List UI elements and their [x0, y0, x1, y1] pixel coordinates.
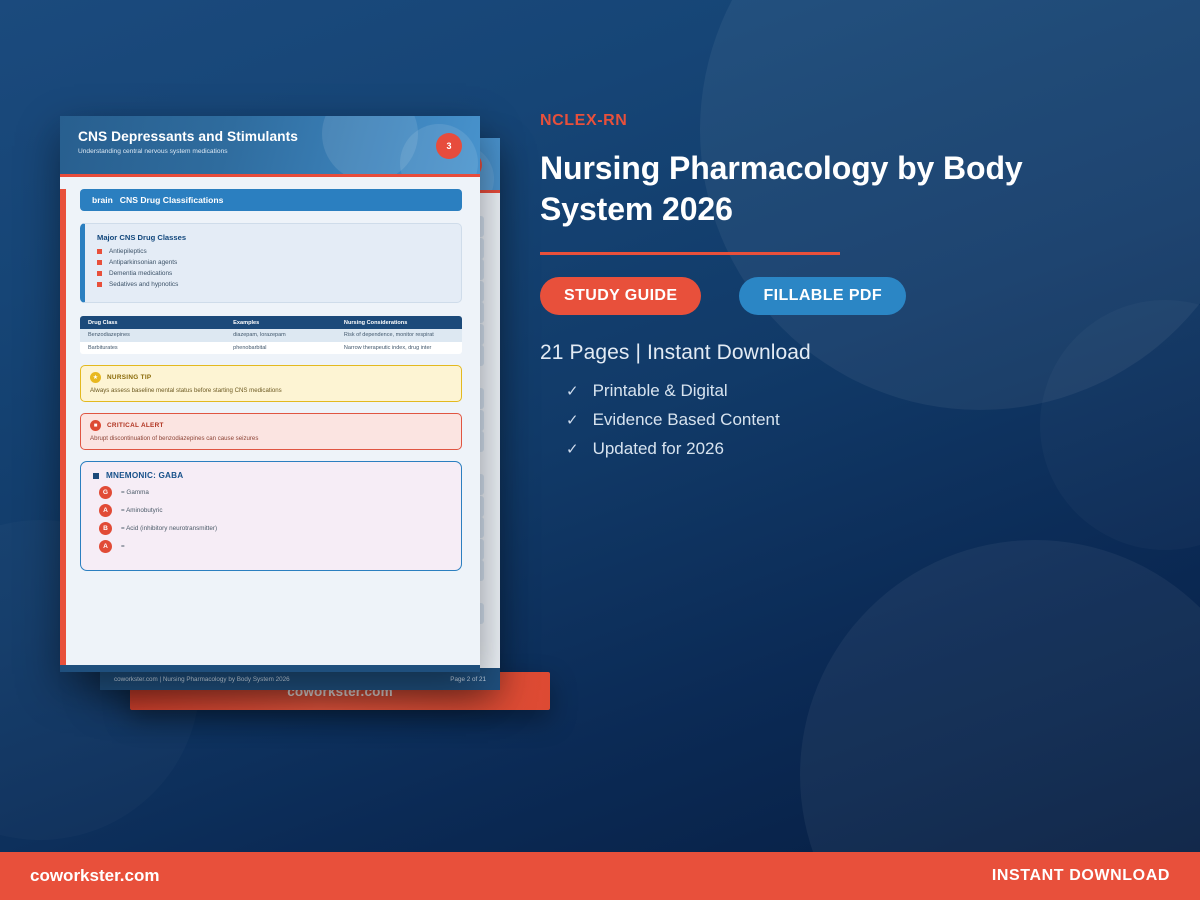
list-item: ✓ Evidence Based Content	[566, 410, 1140, 430]
bottom-bar-brand: coworkster.com	[30, 866, 159, 886]
nursing-tip-body: Always assess baseline mental status bef…	[90, 387, 452, 394]
mnemonic-letter: A	[99, 504, 112, 517]
table-header-cell: Examples	[225, 320, 336, 326]
page-2-footer-right: Page 2 of 21	[450, 676, 486, 683]
section-header: brain CNS Drug Classifications	[80, 189, 462, 211]
page-left-accent-bar	[60, 189, 66, 665]
bullet-square-icon	[97, 271, 102, 276]
mnemonic-value: = Acid (inhibitory neurotransmitter)	[121, 525, 217, 532]
table-cell: Benzodiazepines	[80, 332, 225, 338]
nursing-tip-title: NURSING TIP	[107, 374, 152, 381]
mnemonic-header: MNEMONIC: GABA	[93, 471, 449, 480]
feature-list: ✓ Printable & Digital ✓ Evidence Based C…	[540, 381, 1140, 459]
bottom-bar: coworkster.com INSTANT DOWNLOAD	[0, 852, 1200, 900]
mnemonic-row: B = Acid (inhibitory neurotransmitter)	[99, 522, 449, 535]
mnemonic-row: A =	[99, 540, 449, 553]
table-row: Benzodiazepines diazepam, lorazepam Risk…	[80, 329, 462, 342]
mnemonic-letter: A	[99, 540, 112, 553]
list-item-label: Antiepileptics	[109, 248, 147, 255]
table-cell: Risk of dependence, monitor respirat	[336, 332, 462, 338]
critical-alert-callout: ■ CRITICAL ALERT Abrupt discontinuation …	[80, 413, 462, 450]
list-item: Antiparkinsonian agents	[97, 259, 449, 266]
drug-table: Drug Class Examples Nursing Consideratio…	[80, 316, 462, 354]
feature-label: Updated for 2026	[593, 439, 724, 459]
nursing-tip-callout: ★ NURSING TIP Always assess baseline men…	[80, 365, 462, 402]
list-item: Antiepileptics	[97, 248, 449, 255]
stop-icon: ■	[90, 420, 101, 431]
table-cell: Barbiturates	[80, 345, 225, 351]
product-title: Nursing Pharmacology by Body System 2026	[540, 148, 1060, 230]
check-icon: ✓	[566, 411, 579, 429]
feature-label: Evidence Based Content	[593, 410, 780, 430]
decorative-circle-bottom-right	[800, 540, 1200, 900]
mnemonic-letter: B	[99, 522, 112, 535]
title-divider	[540, 252, 840, 255]
brain-icon: brain	[92, 195, 113, 205]
preview-page-3[interactable]: CNS Depressants and Stimulants Understan…	[60, 116, 480, 672]
page-3-badge: 3	[436, 133, 462, 159]
drug-class-list: Antiepileptics Antiparkinsonian agents D…	[97, 248, 449, 288]
card-title: Major CNS Drug Classes	[97, 233, 449, 242]
bullet-square-icon	[97, 249, 102, 254]
table-cell: phenobarbital	[225, 345, 336, 351]
list-item: ✓ Printable & Digital	[566, 381, 1140, 401]
fillable-pdf-badge[interactable]: FILLABLE PDF	[739, 277, 906, 315]
document-preview-stack[interactable]: coworkster.com 2 3 4 5 6 7 8 9 10 11 12 …	[0, 0, 600, 760]
mnemonic-row: A = Aminobutyric	[99, 504, 449, 517]
mnemonic-card: MNEMONIC: GABA G = Gamma A = Aminobutyri…	[80, 461, 462, 571]
table-cell: diazepam, lorazepam	[225, 332, 336, 338]
page-subtitle: Understanding central nervous system med…	[78, 148, 480, 155]
product-badges: STUDY GUIDE FILLABLE PDF	[540, 277, 1140, 315]
square-icon	[93, 473, 99, 479]
table-cell: Narrow therapeutic index, drug inter	[336, 345, 462, 351]
table-row: Barbiturates phenobarbital Narrow therap…	[80, 342, 462, 355]
mnemonic-row: G = Gamma	[99, 486, 449, 499]
critical-alert-body: Abrupt discontinuation of benzodiazepine…	[90, 435, 452, 442]
product-info-panel: NCLEX-RN Nursing Pharmacology by Body Sy…	[540, 112, 1140, 468]
exam-category-label: NCLEX-RN	[540, 112, 1140, 130]
list-item: ✓ Updated for 2026	[566, 439, 1140, 459]
bullet-square-icon	[97, 260, 102, 265]
page-3-body: brain CNS Drug Classifications Major CNS…	[60, 189, 480, 672]
bottom-bar-cta: INSTANT DOWNLOAD	[992, 867, 1170, 885]
list-item-label: Sedatives and hypnotics	[109, 281, 178, 288]
section-header-label: CNS Drug Classifications	[120, 195, 224, 205]
mnemonic-value: = Gamma	[121, 489, 149, 496]
feature-label: Printable & Digital	[593, 381, 728, 401]
page-3-header: CNS Depressants and Stimulants Understan…	[60, 116, 480, 174]
page-title: CNS Depressants and Stimulants	[78, 129, 480, 144]
check-icon: ✓	[566, 382, 579, 400]
page-3-accent-rule	[60, 174, 480, 177]
critical-alert-title: CRITICAL ALERT	[107, 422, 164, 429]
list-item-label: Antiparkinsonian agents	[109, 259, 177, 266]
bullet-square-icon	[97, 282, 102, 287]
product-meta: 21 Pages | Instant Download	[540, 341, 1140, 365]
mnemonic-title: MNEMONIC: GABA	[106, 471, 183, 480]
list-item: Dementia medications	[97, 270, 449, 277]
page-2-footer-left: coworkster.com | Nursing Pharmacology by…	[114, 676, 290, 683]
study-guide-badge[interactable]: STUDY GUIDE	[540, 277, 701, 315]
mnemonic-value: = Aminobutyric	[121, 507, 162, 514]
mnemonic-value: =	[121, 543, 125, 550]
table-header-cell: Drug Class	[80, 320, 225, 326]
mnemonic-letter: G	[99, 486, 112, 499]
table-header-cell: Nursing Considerations	[336, 320, 462, 326]
nursing-tip-header: ★ NURSING TIP	[90, 372, 452, 383]
critical-alert-header: ■ CRITICAL ALERT	[90, 420, 452, 431]
drug-classes-card: Major CNS Drug Classes Antiepileptics An…	[80, 223, 462, 303]
list-item: Sedatives and hypnotics	[97, 281, 449, 288]
table-header-row: Drug Class Examples Nursing Consideratio…	[80, 316, 462, 329]
check-icon: ✓	[566, 440, 579, 458]
page-3-footer: coworkster.com | Nursing Pharmacology by…	[60, 665, 480, 672]
star-icon: ★	[90, 372, 101, 383]
list-item-label: Dementia medications	[109, 270, 172, 277]
